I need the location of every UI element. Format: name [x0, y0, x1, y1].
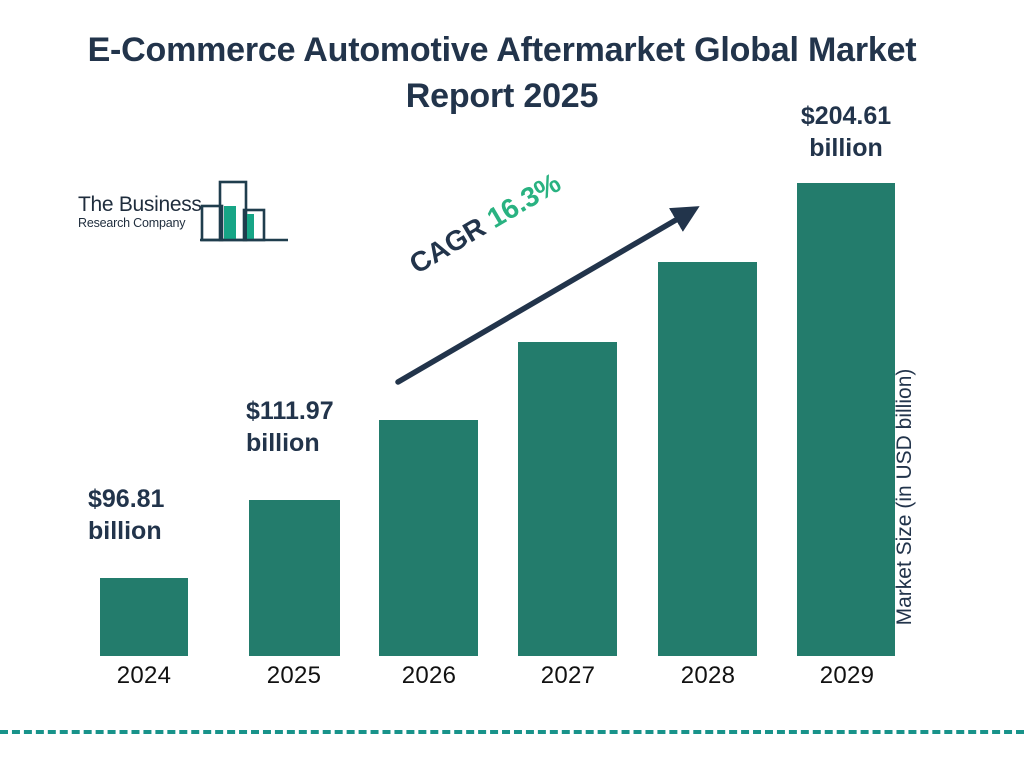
logo-text: The Business Research Company — [78, 194, 208, 231]
growth-arrow-icon — [380, 190, 720, 400]
chart-page: E-Commerce Automotive Aftermarket Global… — [0, 0, 1024, 768]
bar-chart-logo-mark-icon — [198, 178, 290, 250]
bar-2026 — [379, 420, 478, 656]
company-logo: The Business Research Company — [78, 178, 288, 256]
value-unit-2029: billion — [786, 132, 906, 164]
xtick-2028: 2028 — [660, 662, 756, 690]
xtick-2029: 2029 — [799, 662, 895, 690]
xtick-2026: 2026 — [381, 662, 477, 690]
y-axis-title-text: Market Size (in USD billion) — [893, 332, 917, 662]
value-callout-2024: $96.81 billion — [88, 483, 164, 547]
y-axis-title: Market Size (in USD billion) — [893, 2, 937, 332]
value-callout-2025: $111.97 billion — [246, 395, 334, 459]
bar-2029 — [797, 183, 895, 656]
value-amount-2024: $96.81 — [88, 483, 164, 515]
logo-line-1: The Business — [78, 194, 208, 216]
xtick-2027: 2027 — [520, 662, 616, 690]
logo-line-2: Research Company — [78, 217, 208, 231]
value-callout-2029: $204.61 billion — [786, 100, 906, 164]
value-unit-2025: billion — [246, 427, 334, 459]
xtick-2024: 2024 — [96, 662, 192, 690]
value-amount-2029: $204.61 — [786, 100, 906, 132]
xtick-2025: 2025 — [246, 662, 342, 690]
value-amount-2025: $111.97 — [246, 395, 334, 427]
footer-divider — [0, 730, 1024, 734]
bar-2024 — [100, 578, 188, 656]
bar-2025 — [249, 500, 340, 656]
value-unit-2024: billion — [88, 515, 164, 547]
